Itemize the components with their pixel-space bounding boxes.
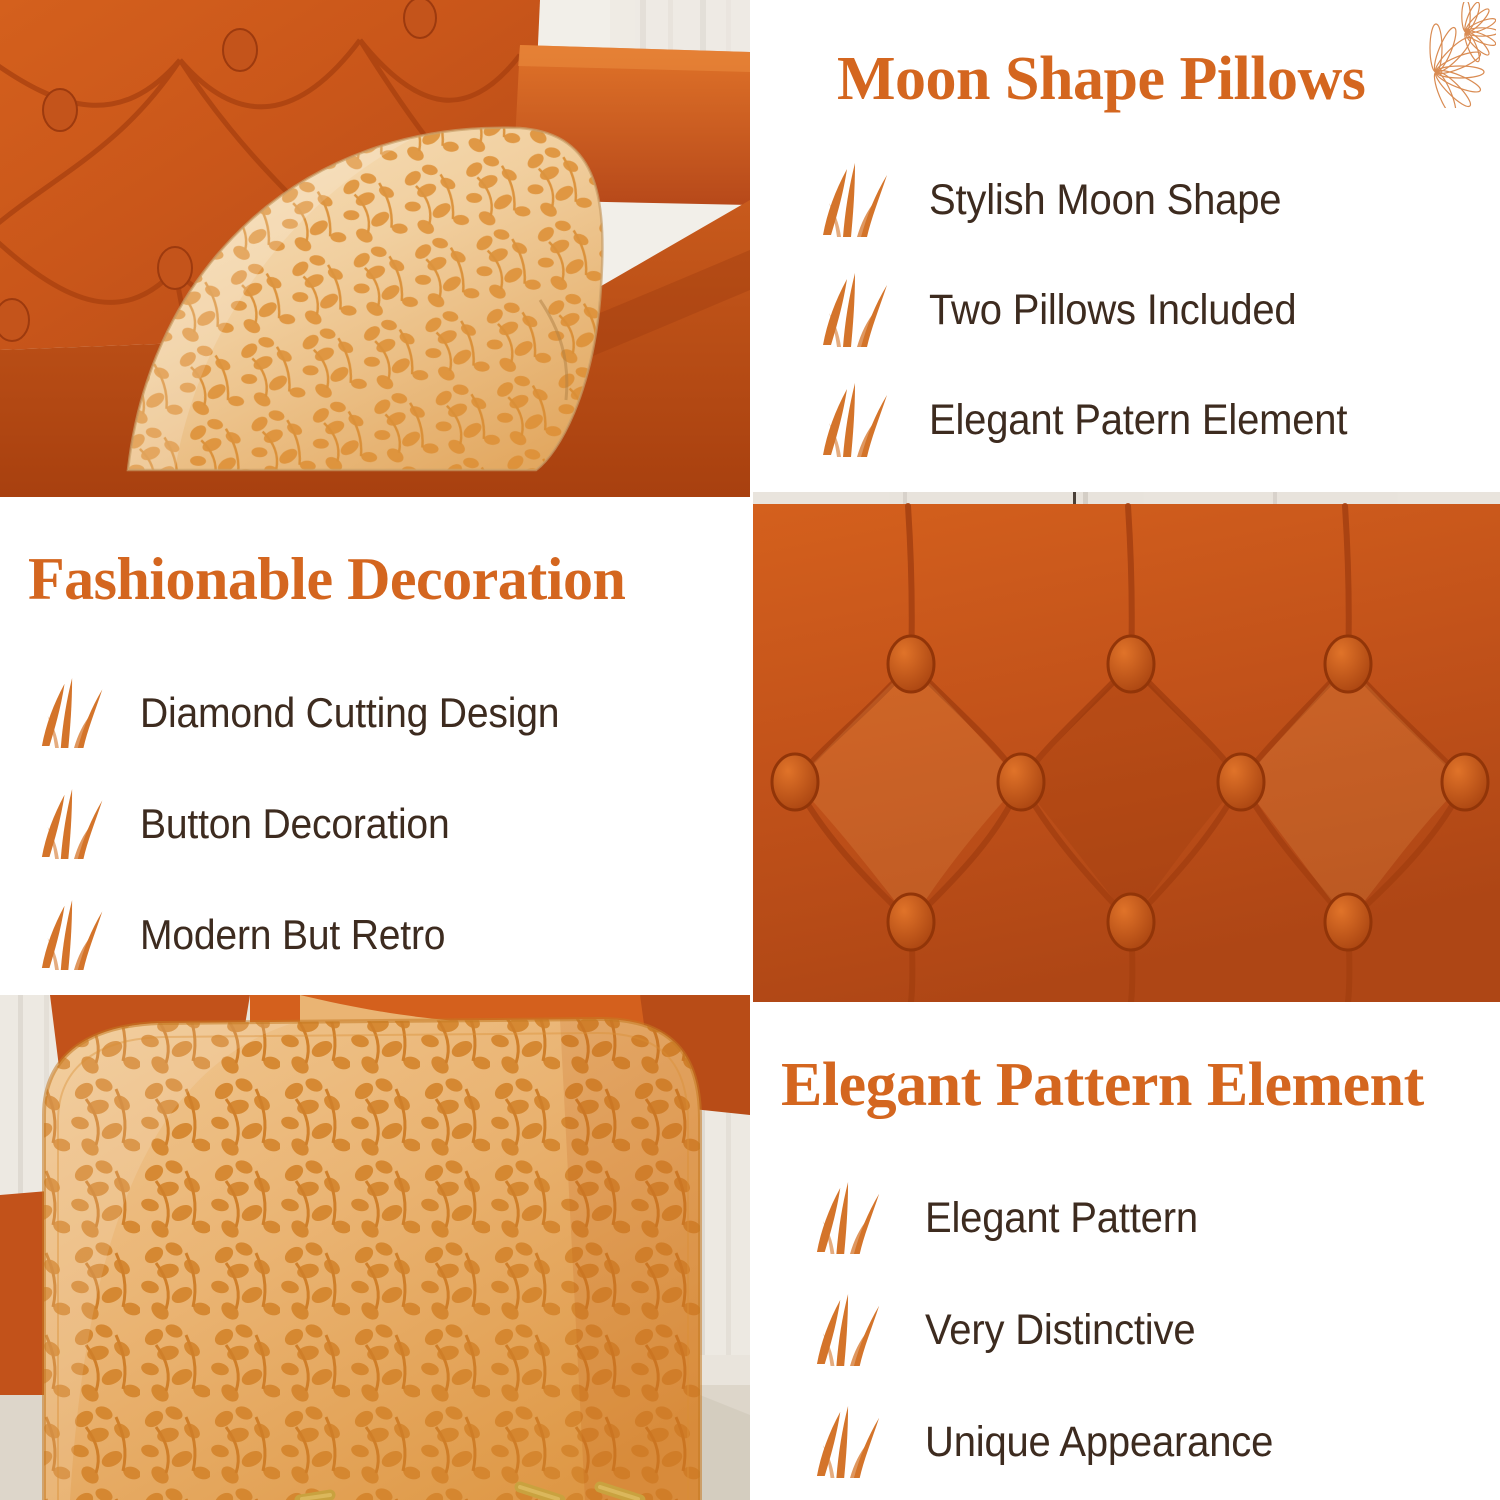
- list-item-label: Unique Appearance: [925, 1421, 1273, 1464]
- product-infographic: Moon Shape Pillows Stylish Moon Shape: [0, 0, 1500, 1500]
- list-item: Two Pillows Included: [821, 255, 1379, 365]
- feature-list-fashion: Diamond Cutting Design Button Decoration: [40, 657, 591, 990]
- list-item: Unique Appearance: [815, 1386, 1299, 1498]
- list-item: Modern But Retro: [40, 879, 591, 990]
- list-item: Elegant Patern Element: [821, 365, 1379, 475]
- grass-tuft-icon: [40, 897, 108, 973]
- grass-tuft-icon: [821, 161, 893, 239]
- panel-elegant-pattern-element: Elegant Pattern Element Elegant Pattern: [753, 1002, 1500, 1500]
- photo-moon-shape-pillow: [0, 0, 750, 497]
- list-item: Diamond Cutting Design: [40, 657, 591, 768]
- chair-back-illustration: [0, 995, 750, 1500]
- photo-diamond-tufting-closeup: [753, 492, 1500, 1002]
- list-item: Very Distinctive: [815, 1274, 1299, 1386]
- list-item-label: Stylish Moon Shape: [929, 179, 1281, 222]
- list-item: Elegant Pattern: [815, 1162, 1299, 1274]
- flower-burst-icon: [1400, 2, 1496, 108]
- grass-tuft-icon: [40, 675, 108, 751]
- grass-tuft-icon: [815, 1403, 885, 1481]
- grass-tuft-icon: [40, 786, 108, 862]
- list-item-label: Button Decoration: [140, 803, 450, 845]
- list-item-label: Diamond Cutting Design: [140, 692, 559, 734]
- panel-fashionable-decoration: Fashionable Decoration Diamond Cutting D…: [0, 497, 753, 1000]
- list-item-label: Very Distinctive: [925, 1309, 1195, 1352]
- list-item: Stylish Moon Shape: [821, 145, 1379, 255]
- list-item-label: Elegant Pattern: [925, 1197, 1198, 1240]
- grass-tuft-icon: [821, 381, 893, 459]
- grass-tuft-icon: [815, 1179, 885, 1257]
- list-item-label: Modern But Retro: [140, 914, 445, 956]
- panel-heading-moon: Moon Shape Pillows: [837, 48, 1365, 110]
- list-item: Button Decoration: [40, 768, 591, 879]
- list-item-label: Elegant Patern Element: [929, 399, 1347, 442]
- panel-moon-shape-pillows: Moon Shape Pillows Stylish Moon Shape: [753, 0, 1500, 492]
- feature-list-moon: Stylish Moon Shape Two Pillows Included: [821, 145, 1379, 475]
- tufting-illustration: [753, 492, 1500, 1002]
- list-item-label: Two Pillows Included: [929, 289, 1296, 332]
- panel-heading-fashion: Fashionable Decoration: [28, 549, 625, 609]
- photo-chair-back-pattern: [0, 995, 750, 1500]
- panel-heading-elegant: Elegant Pattern Element: [781, 1054, 1424, 1116]
- grass-tuft-icon: [815, 1291, 885, 1369]
- grass-tuft-icon: [821, 271, 893, 349]
- feature-list-elegant: Elegant Pattern Very Distinctive: [815, 1162, 1299, 1498]
- moon-pillow-illustration: [0, 0, 750, 497]
